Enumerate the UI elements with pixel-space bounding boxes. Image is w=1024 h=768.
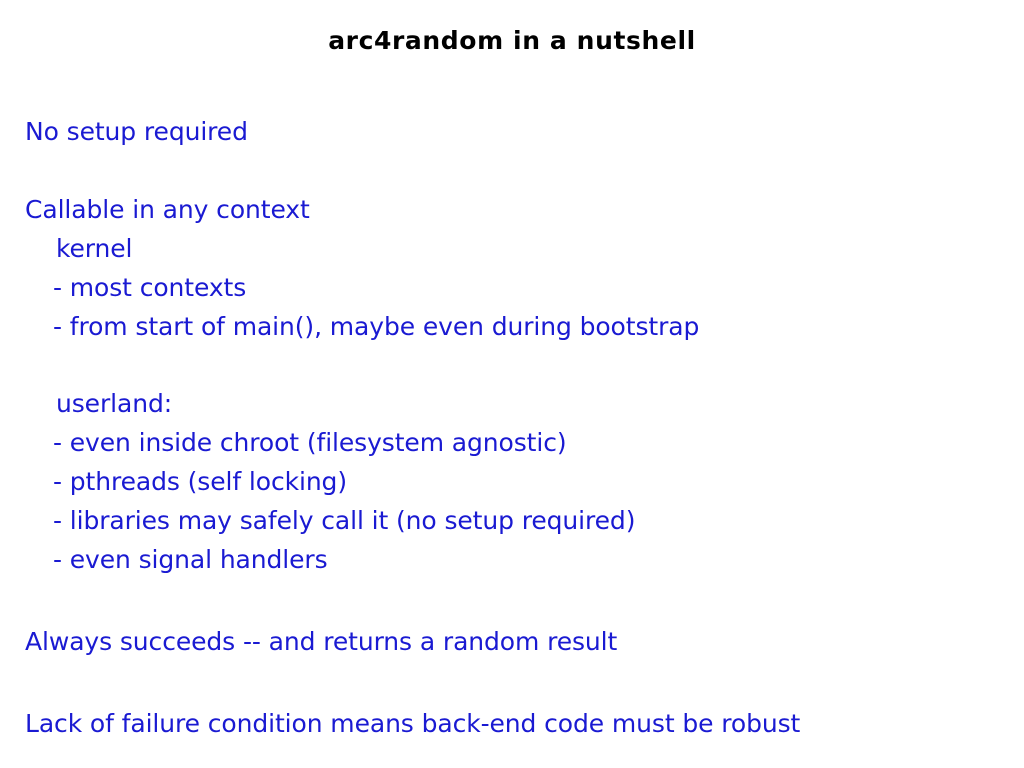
block-spacer	[25, 661, 985, 704]
bullet-always-succeeds: Always succeeds -- and returns a random …	[25, 622, 985, 661]
bullet-most-contexts: - most contexts	[53, 268, 985, 307]
bullet-pthreads-self-locking: - pthreads (self locking)	[53, 462, 985, 501]
bullet-even-inside-chroot: - even inside chroot (filesystem agnosti…	[53, 423, 985, 462]
bullet-libraries-may-safely-call-it: - libraries may safely call it (no setup…	[53, 501, 985, 540]
block-spacer	[25, 579, 985, 622]
subheading-userland: userland:	[56, 384, 985, 423]
slide-canvas: arc4random in a nutshell No setup requir…	[0, 0, 1024, 768]
bullet-callable-in-any-context: Callable in any context	[25, 190, 985, 229]
bullet-even-signal-handlers: - even signal handlers	[53, 540, 985, 579]
bullet-no-setup-required: No setup required	[25, 112, 985, 151]
page-title: arc4random in a nutshell	[0, 26, 1024, 55]
bullet-from-start-of-main: - from start of main(), maybe even durin…	[53, 307, 985, 346]
slide-body: No setup required Callable in any contex…	[25, 112, 985, 743]
bullet-lack-of-failure-condition: Lack of failure condition means back-end…	[25, 704, 985, 743]
inline-spacer	[25, 346, 985, 384]
subheading-kernel: kernel	[56, 229, 985, 268]
block-spacer	[25, 151, 985, 190]
